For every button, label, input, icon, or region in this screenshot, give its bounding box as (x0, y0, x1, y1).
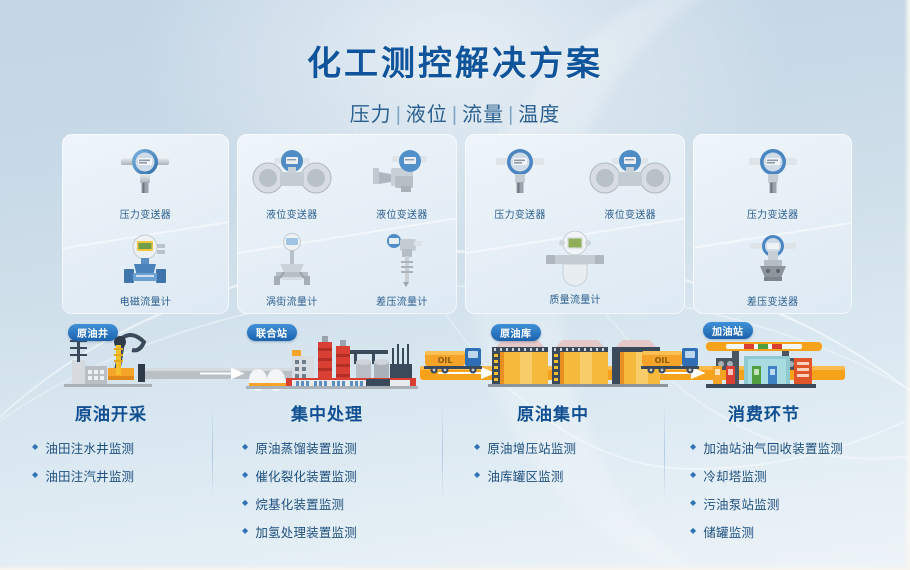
stage-item-list: ◆ 原油蒸馏装置监测 ◆ 催化裂化装置监测 ◆ 烷基化装置监测 ◆ 加氢处理装置… (212, 438, 442, 541)
product-item-differential-pressure-flowmeter[interactable]: 差压流量计 (347, 233, 457, 308)
list-item-label: 原油增压站监测 (487, 438, 576, 457)
product-card-row: 压力变送器 (62, 134, 852, 314)
list-item-label: 储罐监测 (703, 522, 754, 541)
product-label: 液位变送器 (347, 206, 457, 221)
stage-title: 原油开采 (10, 400, 212, 425)
list-item: ◆ 原油增压站监测 (474, 438, 664, 457)
list-item: ◆ 烷基化装置监测 (242, 494, 442, 513)
product-item-pressure-transmitter[interactable]: 压力变送器 (465, 146, 575, 221)
product-card-2[interactable]: 液位变送器 (237, 134, 457, 314)
product-card-3-row-1: 压力变送器 (465, 146, 685, 221)
stage-badge-4[interactable]: 加油站 (703, 322, 753, 339)
stage-title: 集中处理 (212, 400, 442, 425)
product-card-1-row-1: 压力变送器 (62, 146, 229, 221)
product-card-4[interactable]: 压力变送器 (693, 134, 852, 314)
product-label: 液位变送器 (575, 206, 685, 221)
svg-text:OIL: OIL (655, 356, 670, 365)
product-label: 涡街流量计 (237, 293, 347, 308)
product-label: 差压流量计 (347, 293, 457, 308)
product-item-differential-pressure-transmitter[interactable]: 差压变送器 (693, 233, 852, 308)
product-label: 压力变送器 (693, 206, 852, 221)
list-item-label: 污油泵站监测 (703, 494, 779, 513)
differential-pressure-transmitter-icon (693, 233, 852, 289)
diamond-bullet-icon: ◆ (690, 466, 696, 483)
product-label: 压力变送器 (465, 206, 575, 221)
poster-header: 化工测控解决方案 压力|液位|流量|温度 (0, 36, 910, 127)
process-flow-section: OIL (0, 320, 910, 570)
list-item-label: 冷却塔监测 (703, 466, 767, 485)
stage-column-4: 消费环节 ◆ 加油站油气回收装置监测 ◆ 冷却塔监测 ◆ 污油泵站监测 (664, 400, 910, 550)
subtitle-part-flow: 流量 (462, 104, 504, 126)
column-divider (212, 405, 213, 501)
diamond-bullet-icon: ◆ (32, 466, 38, 483)
list-item-label: 烷基化装置监测 (255, 494, 344, 513)
list-item: ◆ 加油站油气回收装置监测 (690, 438, 910, 457)
diamond-bullet-icon: ◆ (242, 466, 248, 483)
list-item: ◆ 油库罐区监测 (474, 466, 664, 485)
product-card-1-row-2: 电磁流量计 (62, 233, 229, 308)
subtitle-part-pressure: 压力 (350, 104, 392, 126)
list-item: ◆ 加氢处理装置监测 (242, 522, 442, 541)
list-item: ◆ 冷却塔监测 (690, 466, 910, 485)
list-item-label: 催化裂化装置监测 (255, 466, 357, 485)
level-transmitter-flange-icon (575, 146, 685, 202)
column-divider (664, 405, 665, 501)
pressure-transmitter-icon (693, 146, 852, 202)
mass-flowmeter-icon (465, 231, 685, 287)
diamond-bullet-icon: ◆ (474, 466, 480, 483)
diamond-bullet-icon: ◆ (474, 438, 480, 455)
list-item-label: 油田注汽井监测 (45, 466, 134, 485)
product-label: 差压变送器 (693, 293, 852, 308)
product-card-3[interactable]: 压力变送器 (465, 134, 685, 314)
list-item-label: 加氢处理装置监测 (255, 522, 357, 541)
stage-text-row: 原油开采 ◆ 油田注水井监测 ◆ 油田注汽井监测 集中处理 (0, 400, 910, 550)
product-item-level-transmitter[interactable]: 液位变送器 (575, 146, 685, 221)
diamond-bullet-icon: ◆ (690, 438, 696, 455)
stage-column-1: 原油开采 ◆ 油田注水井监测 ◆ 油田注汽井监测 (0, 400, 212, 550)
product-item-mass-flowmeter[interactable]: 质量流量计 (465, 231, 685, 306)
product-label: 压力变送器 (62, 206, 229, 221)
diamond-bullet-icon: ◆ (690, 494, 696, 511)
product-card-4-row-2: 差压变送器 (693, 233, 852, 308)
diamond-bullet-icon: ◆ (242, 522, 248, 539)
list-item: ◆ 油田注汽井监测 (32, 466, 212, 485)
level-transmitter-single-flange-icon (347, 146, 457, 202)
level-transmitter-flange-icon (237, 146, 347, 202)
subtitle-part-temperature: 温度 (518, 104, 560, 126)
subtitle-part-level: 液位 (406, 104, 448, 126)
stage-badge-1[interactable]: 原油井 (68, 324, 118, 341)
page-title: 化工测控解决方案 (0, 36, 910, 85)
column-divider (442, 405, 443, 501)
product-item-pressure-transmitter[interactable]: 压力变送器 (693, 146, 852, 221)
subtitle: 压力|液位|流量|温度 (0, 98, 910, 127)
product-item-electromagnetic-flowmeter[interactable]: 电磁流量计 (62, 233, 229, 308)
product-card-2-row-2: 涡街流量计 (237, 233, 457, 308)
product-label: 液位变送器 (237, 206, 347, 221)
stage-badge-3[interactable]: 原油库 (491, 324, 541, 341)
solution-poster: 化工测控解决方案 压力|液位|流量|温度 (0, 0, 910, 570)
stage-column-2: 集中处理 ◆ 原油蒸馏装置监测 ◆ 催化裂化装置监测 ◆ 烷基化装置监测 (212, 400, 442, 550)
product-item-level-transmitter-single-flange[interactable]: 液位变送器 (347, 146, 457, 221)
product-item-pressure-transmitter[interactable]: 压力变送器 (62, 146, 229, 221)
list-item: ◆ 储罐监测 (690, 522, 910, 541)
vortex-flowmeter-icon (237, 233, 347, 289)
list-item-label: 油库罐区监测 (487, 466, 563, 485)
process-flow-illustration: OIL (0, 320, 910, 410)
stage-badge-2[interactable]: 联合站 (247, 324, 297, 341)
differential-pressure-flowmeter-icon (347, 233, 457, 289)
product-card-1[interactable]: 压力变送器 (62, 134, 229, 314)
stage-title: 消费环节 (664, 400, 910, 425)
stage-item-list: ◆ 加油站油气回收装置监测 ◆ 冷却塔监测 ◆ 污油泵站监测 ◆ 储罐监测 (664, 438, 910, 541)
list-item: ◆ 油田注水井监测 (32, 438, 212, 457)
stage-item-list: ◆ 油田注水井监测 ◆ 油田注汽井监测 (10, 438, 212, 485)
diamond-bullet-icon: ◆ (32, 438, 38, 455)
subtitle-separator-3: | (508, 104, 514, 126)
pressure-transmitter-icon (62, 146, 229, 202)
list-item-label: 油田注水井监测 (45, 438, 134, 457)
electromagnetic-flowmeter-icon (62, 233, 229, 289)
product-item-vortex-flowmeter[interactable]: 涡街流量计 (237, 233, 347, 308)
bottom-edge-highlight (0, 565, 910, 570)
product-label: 质量流量计 (465, 291, 685, 306)
product-label: 电磁流量计 (62, 293, 229, 308)
product-card-3-row-2: 质量流量计 (465, 231, 685, 306)
subtitle-separator-2: | (452, 104, 458, 126)
product-item-level-transmitter-dual-flange[interactable]: 液位变送器 (237, 146, 347, 221)
list-item-label: 原油蒸馏装置监测 (255, 438, 357, 457)
list-item: ◆ 污油泵站监测 (690, 494, 910, 513)
stage-item-list: ◆ 原油增压站监测 ◆ 油库罐区监测 (442, 438, 664, 485)
diamond-bullet-icon: ◆ (690, 522, 696, 539)
list-item: ◆ 原油蒸馏装置监测 (242, 438, 442, 457)
right-edge-highlight (904, 0, 910, 570)
stage-title: 原油集中 (442, 400, 664, 425)
diamond-bullet-icon: ◆ (242, 438, 248, 455)
pressure-transmitter-icon (465, 146, 575, 202)
svg-text:OIL: OIL (438, 356, 453, 365)
stage-column-3: 原油集中 ◆ 原油增压站监测 ◆ 油库罐区监测 (442, 400, 664, 550)
product-card-2-row-1: 液位变送器 (237, 146, 457, 221)
product-card-4-row-1: 压力变送器 (693, 146, 852, 221)
subtitle-separator-1: | (396, 104, 402, 126)
diamond-bullet-icon: ◆ (242, 494, 248, 511)
list-item-label: 加油站油气回收装置监测 (703, 438, 843, 457)
list-item: ◆ 催化裂化装置监测 (242, 466, 442, 485)
